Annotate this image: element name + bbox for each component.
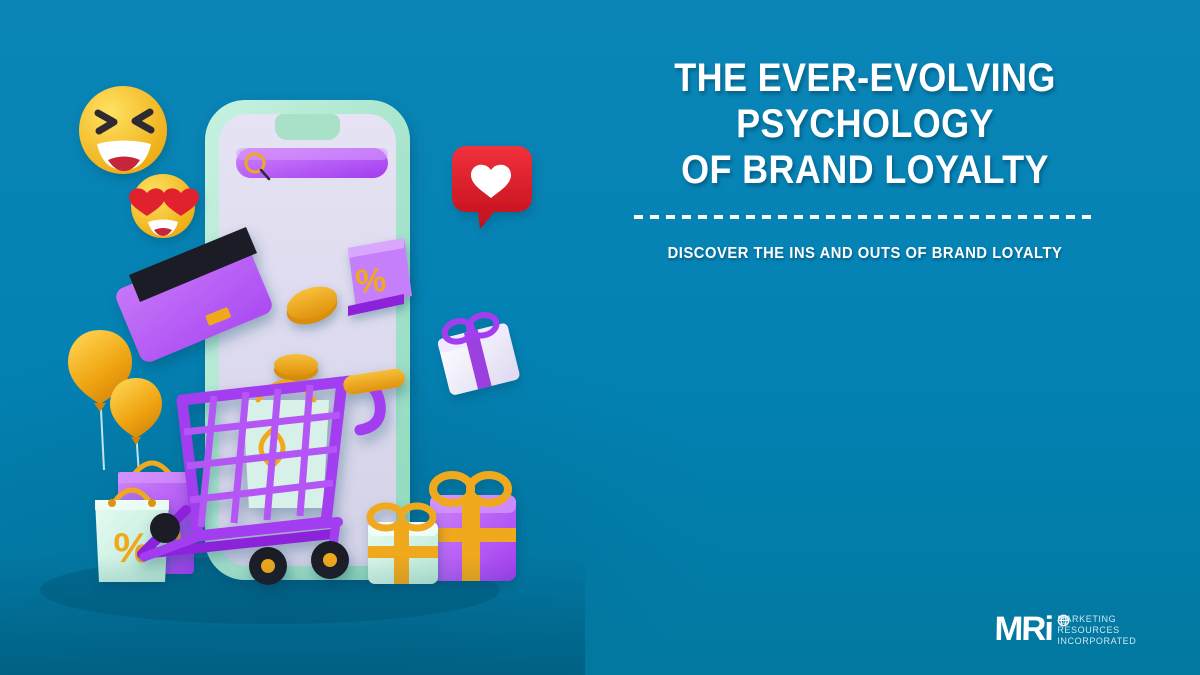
like-bubble-shape bbox=[452, 146, 532, 229]
page-subtitle: DISCOVER THE INS AND OUTS OF BRAND LOYAL… bbox=[607, 245, 1122, 263]
heart-eyes-emoji-shape bbox=[129, 174, 199, 238]
coin-small-shape bbox=[274, 354, 318, 381]
hero-illustration: % bbox=[0, 0, 585, 675]
discount-bag-purple-shape: % bbox=[348, 238, 412, 316]
gift-box-purple-shape bbox=[430, 475, 516, 581]
logo-mark: MRi bbox=[994, 614, 1052, 644]
laughing-emoji-shape bbox=[79, 86, 167, 174]
globe-icon bbox=[1057, 614, 1070, 627]
gift-box-white-shape bbox=[434, 310, 521, 396]
search-bar-3d bbox=[236, 148, 388, 179]
divider bbox=[634, 215, 1096, 219]
logo-line-3: INCORPORATED bbox=[1057, 636, 1136, 646]
brand-logo[interactable]: MRi MARKETING RESOURCES INCORPORATED bbox=[995, 612, 1136, 646]
logo-mark-text: MRi bbox=[994, 610, 1052, 648]
page-title: THE EVER-EVOLVING PSYCHOLOGY OF BRAND LO… bbox=[613, 55, 1117, 193]
text-panel: THE EVER-EVOLVING PSYCHOLOGY OF BRAND LO… bbox=[585, 55, 1145, 263]
poster-canvas: % bbox=[0, 0, 1200, 675]
svg-text:%: % bbox=[354, 261, 388, 302]
